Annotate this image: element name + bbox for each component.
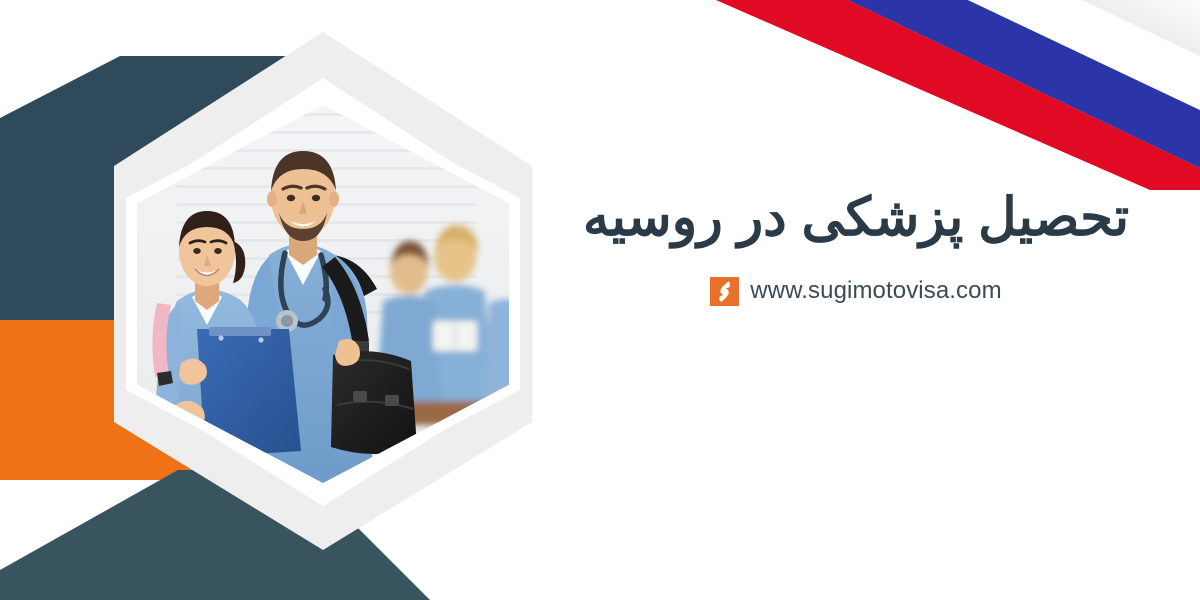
- website-row[interactable]: www.sugimotovisa.com: [556, 277, 1156, 306]
- page-title: تحصیل پزشکی در روسیه: [556, 186, 1156, 251]
- website-url[interactable]: www.sugimotovisa.com: [750, 277, 1001, 305]
- banner-text-block: تحصیل پزشکی در روسیه www.sugimotovisa.co…: [556, 186, 1156, 306]
- russian-flag-diagonal-stripes: [680, 0, 1200, 190]
- hero-hexagon-group: [108, 26, 538, 556]
- promo-banner: تحصیل پزشکی در روسیه www.sugimotovisa.co…: [0, 0, 1200, 600]
- sugimoto-flame-logo-icon: [710, 277, 739, 306]
